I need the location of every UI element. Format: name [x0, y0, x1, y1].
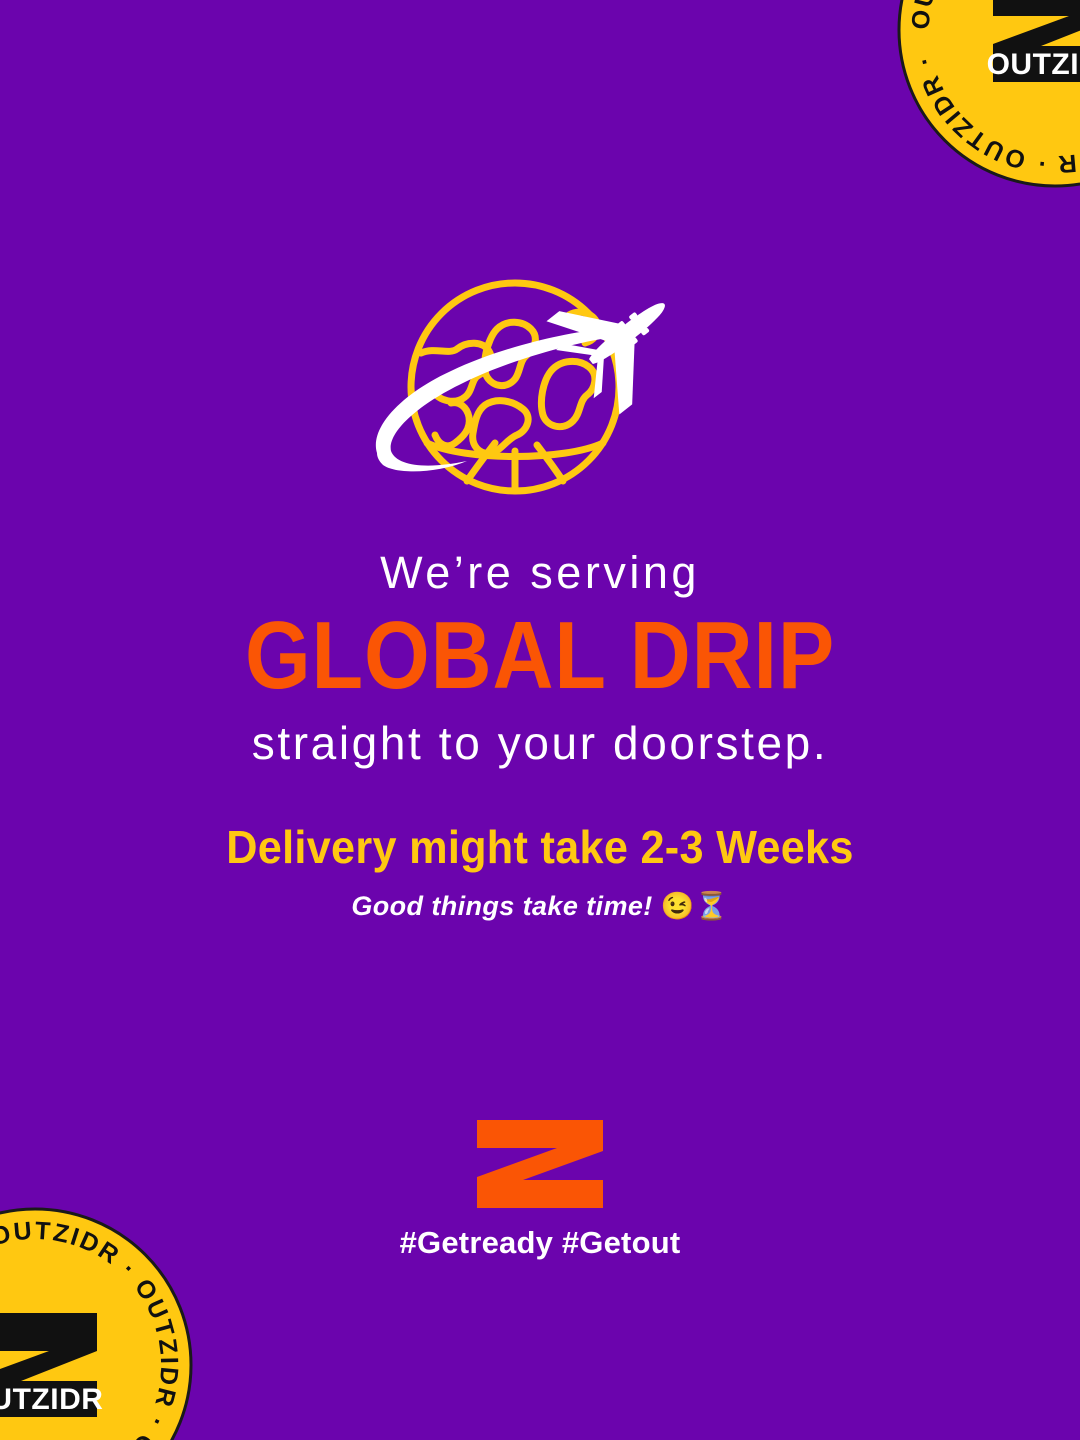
delivery-block: Delivery might take 2-3 Weeks Good thing…	[0, 822, 1080, 922]
svg-text:OUTZIDR: OUTZIDR	[0, 1383, 103, 1416]
delivery-note: Delivery might take 2-3 Weeks	[32, 822, 1047, 874]
subtitle-text: straight to your doorstep.	[0, 718, 1080, 769]
footer-brand: #Getready #Getout	[0, 1118, 1080, 1261]
svg-text:OUTZIDR: OUTZIDR	[987, 48, 1080, 81]
eyebrow-text: We’re serving	[0, 548, 1080, 598]
delivery-subnote: Good things take time! 😉⏳	[0, 890, 1080, 922]
outzidr-badge-top-right: OUTZIDR · OUTZIDR · OUTZIDR · OUTZIDR · …	[895, 0, 1080, 190]
z-logo-mark	[475, 1118, 605, 1210]
hashtags-text: #Getready #Getout	[0, 1224, 1080, 1261]
headline-block: We’re serving GLOBAL DRIP straight to yo…	[0, 548, 1080, 769]
delivery-subnote-text: Good things take time!	[351, 891, 652, 921]
globe-airplane-illustration	[355, 275, 715, 515]
wink-hourglass-emoji: 😉⏳	[661, 891, 729, 921]
poster-canvas: OUTZIDR · OUTZIDR · OUTZIDR · OUTZIDR · …	[0, 0, 1080, 1440]
page-title: GLOBAL DRIP	[65, 608, 1015, 704]
